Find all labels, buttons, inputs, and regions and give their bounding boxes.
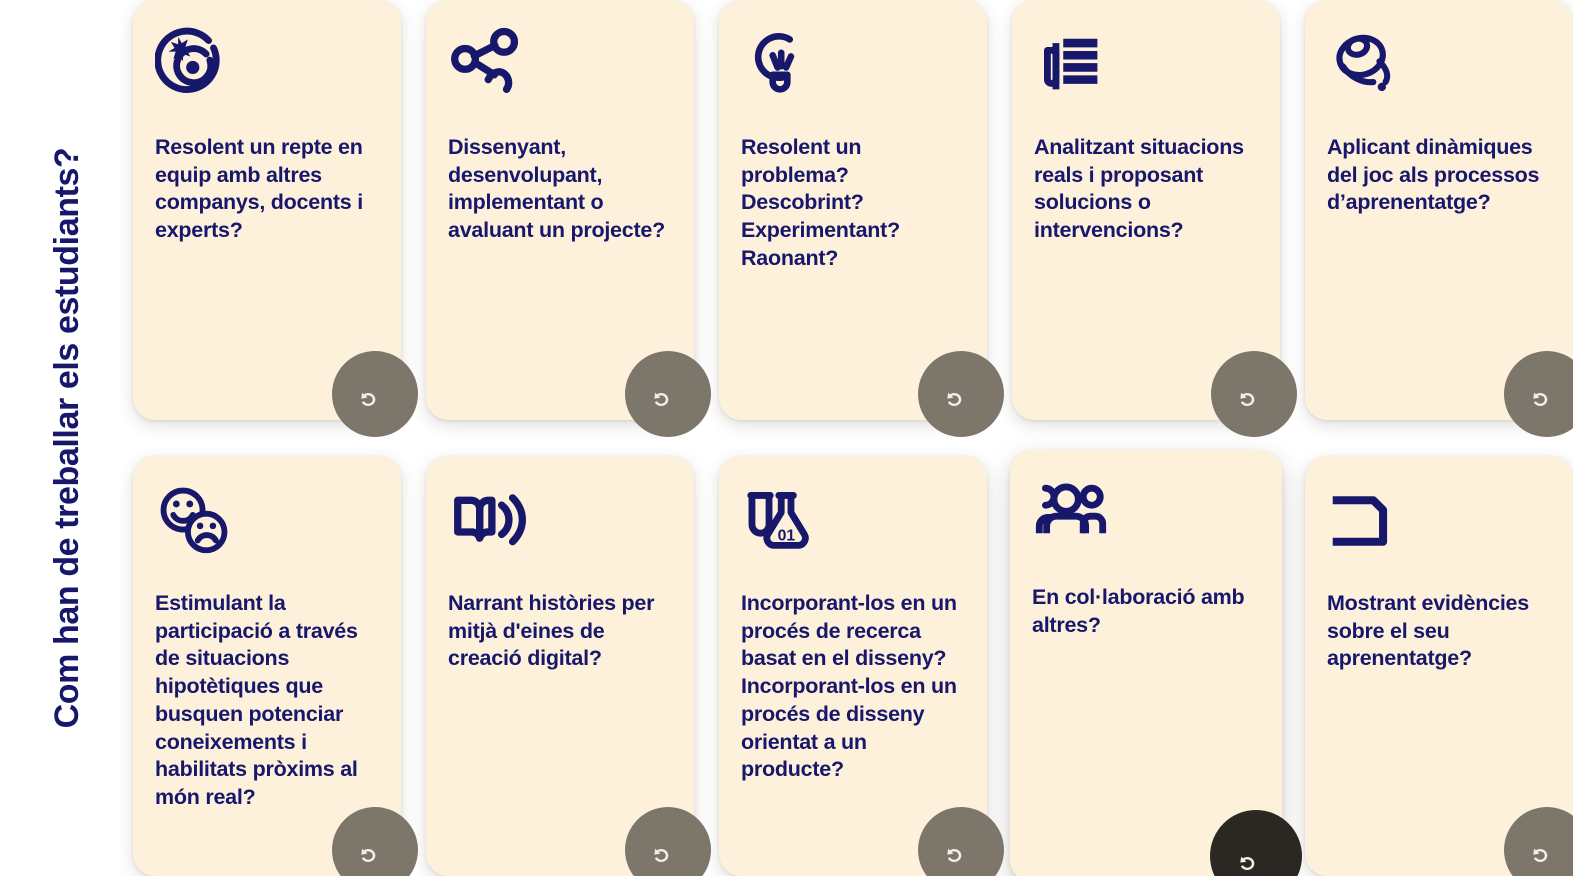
flip-arrow-icon <box>1529 845 1551 867</box>
flip-card-button[interactable] <box>918 807 1004 876</box>
card-evidencies[interactable]: Mostrant evidències sobre el seu aprenen… <box>1305 456 1573 876</box>
flip-arrow-icon <box>357 845 379 867</box>
card-question-text: Incorporant-los en un procés de recerca … <box>741 590 965 784</box>
card-slot: Analitzant situacions reals i proposant … <box>1012 0 1280 420</box>
group-people-icon <box>1032 476 1110 554</box>
share-network-icon <box>448 26 526 104</box>
card-slot: Dissenyant, desenvolupant, implementant … <box>426 0 694 420</box>
title-rail: Com han de treballar els estudiants? <box>0 0 133 876</box>
flip-card-button[interactable] <box>625 807 711 876</box>
card-question-text: Resolent un problema? Descobrint? Experi… <box>741 134 965 273</box>
spinning-top-game-icon <box>1327 26 1405 104</box>
card-slot: Mostrant evidències sobre el seu aprenen… <box>1305 456 1573 876</box>
flip-card-button[interactable] <box>1504 807 1573 876</box>
card-slot: En col·laboració amb altres? <box>1012 456 1280 876</box>
lightbulb-idea-icon <box>741 26 819 104</box>
flip-arrow-icon <box>357 389 379 411</box>
card-question-text: Narrant històries per mitjà d'eines de c… <box>448 590 672 673</box>
card-gamificacio[interactable]: Aplicant dinàmiques del joc als processo… <box>1305 0 1573 420</box>
flip-card-button[interactable] <box>1211 351 1297 437</box>
flip-arrow-icon <box>650 845 672 867</box>
card-slot: Aplicant dinàmiques del joc als processo… <box>1305 0 1573 420</box>
card-slot: Resolent un repte en equip amb altres co… <box>133 0 401 420</box>
flip-arrow-icon <box>650 389 672 411</box>
flip-arrow-icon <box>1236 389 1258 411</box>
card-question-text: En col·laboració amb altres? <box>1032 584 1260 639</box>
card-question-text: Mostrant evidències sobre el seu aprenen… <box>1327 590 1551 673</box>
card-narracio-digital[interactable]: Narrant històries per mitjà d'eines de c… <box>426 456 694 876</box>
newspaper-article-icon <box>1034 26 1112 104</box>
card-question-text: Aplicant dinàmiques del joc als processo… <box>1327 134 1551 217</box>
card-grid: Resolent un repte en equip amb altres co… <box>133 0 1573 876</box>
target-challenge-icon <box>155 26 233 104</box>
card-slot: Estimulant la participació a través de s… <box>133 456 401 876</box>
portfolio-folder-icon <box>1327 482 1405 560</box>
card-recerca-disseny[interactable]: 01 Incorporant-los en un procés de recer… <box>719 456 987 876</box>
flip-card-button[interactable] <box>1210 810 1302 876</box>
card-simulacio[interactable]: Estimulant la participació a través de s… <box>133 456 401 876</box>
flip-arrow-icon <box>1236 853 1258 875</box>
flip-card-button[interactable] <box>332 351 418 437</box>
flip-card-button[interactable] <box>332 807 418 876</box>
open-book-audio-icon <box>448 482 526 560</box>
page-title: Com han de treballar els estudiants? <box>50 148 84 729</box>
card-repte-equip[interactable]: Resolent un repte en equip amb altres co… <box>133 0 401 420</box>
card-situacions-reals[interactable]: Analitzant situacions reals i proposant … <box>1012 0 1280 420</box>
happy-sad-faces-icon <box>155 482 233 560</box>
flip-card-button[interactable] <box>918 351 1004 437</box>
slide-canvas: Com han de treballar els estudiants? Res… <box>0 0 1573 876</box>
flip-arrow-icon <box>1529 389 1551 411</box>
card-question-text: Resolent un repte en equip amb altres co… <box>155 134 379 245</box>
card-slot: Resolent un problema? Descobrint? Experi… <box>719 0 987 420</box>
card-slot: Narrant històries per mitjà d'eines de c… <box>426 456 694 876</box>
card-question-text: Analitzant situacions reals i proposant … <box>1034 134 1258 245</box>
flip-arrow-icon <box>943 389 965 411</box>
svg-text:01: 01 <box>778 528 796 545</box>
flip-card-button[interactable] <box>625 351 711 437</box>
card-question-text: Estimulant la participació a través de s… <box>155 590 379 812</box>
card-slot: 01 Incorporant-los en un procés de recer… <box>719 456 987 876</box>
lab-flask-icon: 01 <box>741 482 819 560</box>
card-projecte[interactable]: Dissenyant, desenvolupant, implementant … <box>426 0 694 420</box>
card-question-text: Dissenyant, desenvolupant, implementant … <box>448 134 672 245</box>
flip-card-button[interactable] <box>1504 351 1573 437</box>
card-collaboracio[interactable]: En col·laboració amb altres? <box>1010 450 1282 876</box>
flip-arrow-icon <box>943 845 965 867</box>
card-problema[interactable]: Resolent un problema? Descobrint? Experi… <box>719 0 987 420</box>
